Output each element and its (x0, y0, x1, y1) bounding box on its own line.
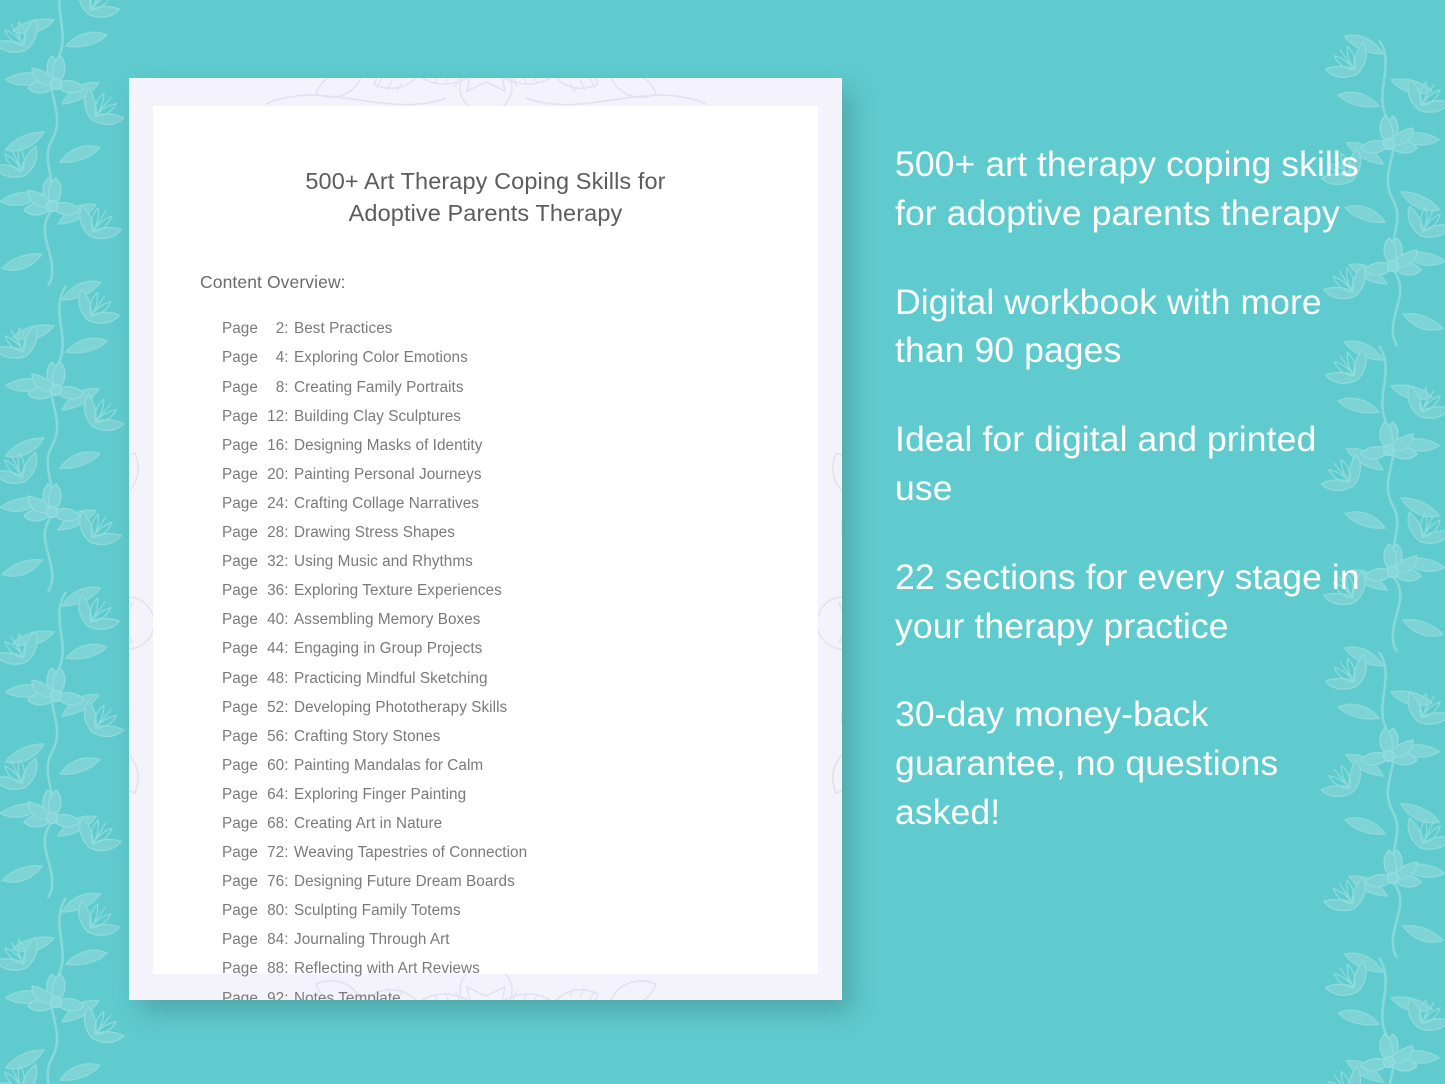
toc-entry-label: Designing Masks of Identity (294, 431, 482, 460)
toc-row: Page 24:Crafting Collage Narratives (222, 489, 774, 518)
marketing-feature-text: Ideal for digital and printed use (895, 415, 1365, 513)
toc-page-word: Page (222, 990, 258, 1000)
toc-page-number: Page 76: (222, 867, 294, 896)
toc-page-number: Page 4: (222, 343, 294, 372)
toc-page-value: 28 (262, 518, 284, 547)
toc-entry-label: Best Practices (294, 314, 392, 343)
toc-page-word: Page (222, 320, 258, 337)
toc-row: Page 32:Using Music and Rhythms (222, 547, 774, 576)
toc-row: Page 36:Exploring Texture Experiences (222, 576, 774, 605)
toc-page-word: Page (222, 786, 258, 803)
toc-page-word: Page (222, 873, 258, 890)
toc-entry-label: Drawing Stress Shapes (294, 518, 455, 547)
toc-row: Page 64:Exploring Finger Painting (222, 780, 774, 809)
toc-page-word: Page (222, 815, 258, 832)
marketing-feature-text: 30-day money-back guarantee, no question… (895, 690, 1365, 836)
toc-entry-label: Exploring Finger Painting (294, 780, 466, 809)
toc-entry-label: Painting Mandalas for Calm (294, 751, 483, 780)
toc-page-word: Page (222, 670, 258, 687)
toc-row: Page 16:Designing Masks of Identity (222, 431, 774, 460)
toc-entry-label: Creating Art in Nature (294, 809, 442, 838)
toc-page-word: Page (222, 582, 258, 599)
toc-page-value: 32 (262, 547, 284, 576)
toc-page-number: Page 32: (222, 547, 294, 576)
toc-entry-label: Weaving Tapestries of Connection (294, 838, 527, 867)
toc-page-number: Page 2: (222, 314, 294, 343)
toc-page-number: Page 48: (222, 664, 294, 693)
page-title-line-1: 500+ Art Therapy Coping Skills for (305, 168, 665, 194)
toc-entry-label: Developing Phototherapy Skills (294, 693, 507, 722)
toc-page-value: 76 (262, 867, 284, 896)
marketing-feature-list: 500+ art therapy coping skills for adopt… (895, 140, 1365, 837)
toc-page-word: Page (222, 611, 258, 628)
toc-page-word: Page (222, 728, 258, 745)
toc-page-number: Page 24: (222, 489, 294, 518)
toc-page-value: 4 (262, 343, 284, 372)
toc-page-number: Page 20: (222, 460, 294, 489)
toc-page-number: Page 64: (222, 780, 294, 809)
toc-page-word: Page (222, 699, 258, 716)
toc-row: Page 80:Sculpting Family Totems (222, 896, 774, 925)
toc-entry-label: Designing Future Dream Boards (294, 867, 515, 896)
toc-page-word: Page (222, 960, 258, 977)
toc-entry-label: Exploring Color Emotions (294, 343, 468, 372)
toc-entry-label: Painting Personal Journeys (294, 460, 482, 489)
toc-page-word: Page (222, 408, 258, 425)
toc-page-word: Page (222, 437, 258, 454)
toc-row: Page 68:Creating Art in Nature (222, 809, 774, 838)
toc-entry-label: Crafting Collage Narratives (294, 489, 479, 518)
toc-row: Page 12:Building Clay Sculptures (222, 402, 774, 431)
toc-entry-label: Notes Template (294, 984, 401, 1000)
toc-row: Page 2:Best Practices (222, 314, 774, 343)
toc-page-value: 12 (262, 402, 284, 431)
toc-page-word: Page (222, 640, 258, 657)
toc-page-value: 48 (262, 664, 284, 693)
toc-page-word: Page (222, 553, 258, 570)
toc-entry-label: Exploring Texture Experiences (294, 576, 502, 605)
toc-page-value: 84 (262, 925, 284, 954)
toc-row: Page 52:Developing Phototherapy Skills (222, 693, 774, 722)
toc-page-word: Page (222, 902, 258, 919)
toc-page-value: 56 (262, 722, 284, 751)
toc-page-number: Page 92: (222, 984, 294, 1000)
toc-page-word: Page (222, 757, 258, 774)
document-page: 500+ Art Therapy Coping Skills for Adopt… (153, 106, 818, 974)
toc-entry-label: Creating Family Portraits (294, 373, 464, 402)
toc-page-value: 72 (262, 838, 284, 867)
toc-page-word: Page (222, 466, 258, 483)
toc-page-value: 16 (262, 431, 284, 460)
toc-page-value: 80 (262, 896, 284, 925)
toc-row: Page 4:Exploring Color Emotions (222, 343, 774, 372)
toc-page-number: Page 16: (222, 431, 294, 460)
toc-entry-label: Crafting Story Stones (294, 722, 440, 751)
marketing-feature-text: 22 sections for every stage in your ther… (895, 553, 1365, 651)
toc-page-word: Page (222, 524, 258, 541)
toc-row: Page 40:Assembling Memory Boxes (222, 605, 774, 634)
toc-page-number: Page 44: (222, 634, 294, 663)
toc-row: Page 8:Creating Family Portraits (222, 373, 774, 402)
toc-page-value: 8 (262, 373, 284, 402)
marketing-feature-text: Digital workbook with more than 90 pages (895, 278, 1365, 376)
toc-page-number: Page 88: (222, 954, 294, 983)
toc-row: Page 60:Painting Mandalas for Calm (222, 751, 774, 780)
toc-page-value: 92 (262, 984, 284, 1000)
toc-page-number: Page 8: (222, 373, 294, 402)
toc-page-number: Page 84: (222, 925, 294, 954)
toc-row: Page 56:Crafting Story Stones (222, 722, 774, 751)
toc-page-number: Page 52: (222, 693, 294, 722)
toc-entry-label: Assembling Memory Boxes (294, 605, 480, 634)
toc-page-number: Page 68: (222, 809, 294, 838)
toc-page-number: Page 28: (222, 518, 294, 547)
toc-page-word: Page (222, 844, 258, 861)
toc-page-value: 44 (262, 634, 284, 663)
marketing-feature-text: 500+ art therapy coping skills for adopt… (895, 140, 1365, 238)
toc-page-value: 36 (262, 576, 284, 605)
toc-entry-label: Practicing Mindful Sketching (294, 664, 488, 693)
toc-page-number: Page 12: (222, 402, 294, 431)
toc-entry-label: Building Clay Sculptures (294, 402, 461, 431)
toc-entry-label: Reflecting with Art Reviews (294, 954, 480, 983)
toc-page-value: 20 (262, 460, 284, 489)
toc-page-value: 64 (262, 780, 284, 809)
toc-entry-label: Using Music and Rhythms (294, 547, 473, 576)
toc-page-word: Page (222, 349, 258, 366)
toc-page-value: 60 (262, 751, 284, 780)
toc-page-value: 52 (262, 693, 284, 722)
toc-row: Page 72:Weaving Tapestries of Connection (222, 838, 774, 867)
toc-page-value: 24 (262, 489, 284, 518)
toc-page-value: 88 (262, 954, 284, 983)
toc-page-word: Page (222, 931, 258, 948)
toc-page-value: 40 (262, 605, 284, 634)
toc-row: Page 20:Painting Personal Journeys (222, 460, 774, 489)
toc-page-number: Page 40: (222, 605, 294, 634)
toc-entry-label: Journaling Through Art (294, 925, 450, 954)
toc-page-number: Page 72: (222, 838, 294, 867)
floral-border-left-decoration (0, 0, 136, 1084)
toc-entry-label: Engaging in Group Projects (294, 634, 482, 663)
table-of-contents-list: Page 2:Best PracticesPage 4:Exploring Co… (222, 314, 774, 1000)
floral-vine-icon (0, 0, 136, 1084)
toc-page-value: 2 (262, 314, 284, 343)
toc-page-number: Page 56: (222, 722, 294, 751)
toc-page-word: Page (222, 379, 258, 396)
toc-row: Page 28:Drawing Stress Shapes (222, 518, 774, 547)
toc-page-number: Page 36: (222, 576, 294, 605)
toc-page-value: 68 (262, 809, 284, 838)
toc-row: Page 48:Practicing Mindful Sketching (222, 664, 774, 693)
toc-row: Page 92:Notes Template (222, 984, 774, 1000)
toc-page-number: Page 80: (222, 896, 294, 925)
content-overview-label: Content Overview: (200, 272, 774, 293)
toc-row: Page 44:Engaging in Group Projects (222, 634, 774, 663)
toc-page-word: Page (222, 495, 258, 512)
toc-row: Page 84:Journaling Through Art (222, 925, 774, 954)
toc-page-number: Page 60: (222, 751, 294, 780)
document-preview-card[interactable]: 500+ Art Therapy Coping Skills for Adopt… (129, 78, 842, 1000)
toc-entry-label: Sculpting Family Totems (294, 896, 461, 925)
page-title-line-2: Adoptive Parents Therapy (349, 200, 623, 226)
toc-row: Page 88:Reflecting with Art Reviews (222, 954, 774, 983)
toc-row: Page 76:Designing Future Dream Boards (222, 867, 774, 896)
page-title: 500+ Art Therapy Coping Skills for Adopt… (223, 165, 748, 229)
